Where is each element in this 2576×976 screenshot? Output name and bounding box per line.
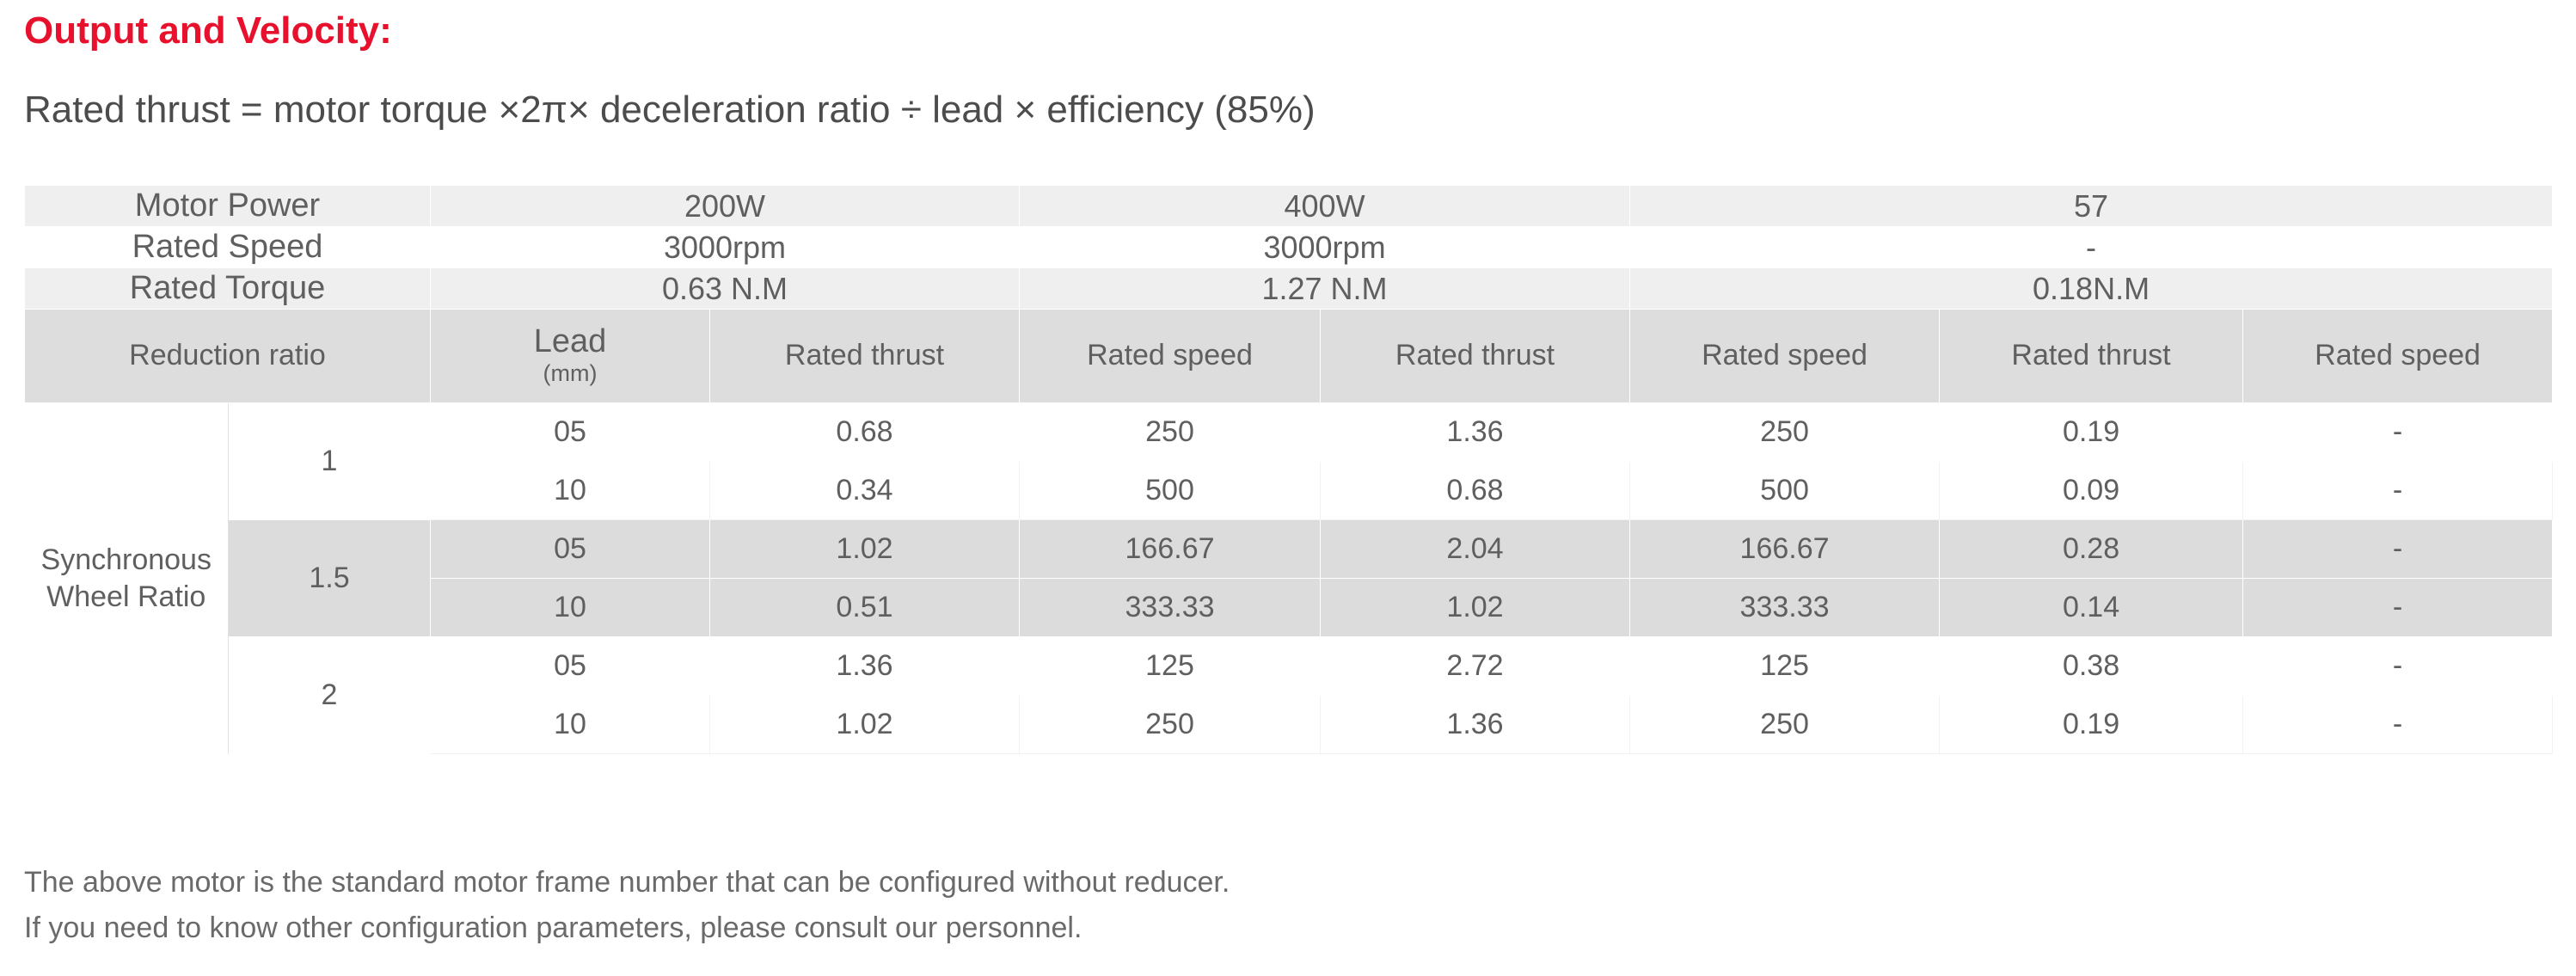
- cell-speed-200w: 125: [1020, 637, 1321, 696]
- ratio-cell-2: 2: [229, 637, 431, 754]
- footnote-line-1: The above motor is the standard motor fr…: [24, 860, 1230, 905]
- footnote-line-2: If you need to know other configuration …: [24, 905, 1230, 951]
- col-header-reduction-ratio: Reduction ratio: [25, 310, 431, 403]
- col-header-speed-57: Rated speed: [2243, 310, 2553, 403]
- table-row-rated-torque: Rated Torque 0.63 N.M 1.27 N.M 0.18N.M: [25, 268, 2553, 310]
- cell-thrust-57: 0.19: [1940, 696, 2243, 754]
- cell-thrust-400w: 0.68: [1321, 462, 1630, 520]
- cell-speed-400w: 250: [1630, 696, 1940, 754]
- cell-thrust-57: 0.09: [1940, 462, 2243, 520]
- rated-speed-200w: 3000rpm: [431, 227, 1020, 268]
- cell-speed-200w: 333.33: [1020, 579, 1321, 637]
- table-row-motor-power: Motor Power 200W 400W 57: [25, 186, 2553, 227]
- cell-speed-400w: 333.33: [1630, 579, 1940, 637]
- cell-thrust-200w: 1.02: [710, 696, 1020, 754]
- cell-speed-57: -: [2243, 579, 2553, 637]
- col-header-lead: Lead (mm): [431, 310, 710, 403]
- table-row: 2 05 1.36 125 2.72 125 0.38 -: [25, 637, 2553, 696]
- cell-speed-200w: 166.67: [1020, 520, 1321, 579]
- rated-torque-label: Rated Torque: [25, 268, 431, 310]
- cell-thrust-57: 0.14: [1940, 579, 2243, 637]
- cell-thrust-57: 0.28: [1940, 520, 2243, 579]
- cell-thrust-200w: 1.02: [710, 520, 1020, 579]
- cell-speed-400w: 166.67: [1630, 520, 1940, 579]
- cell-thrust-57: 0.38: [1940, 637, 2243, 696]
- cell-thrust-200w: 1.36: [710, 637, 1020, 696]
- cell-speed-57: -: [2243, 637, 2553, 696]
- cell-thrust-400w: 2.04: [1321, 520, 1630, 579]
- cell-speed-400w: 125: [1630, 637, 1940, 696]
- rated-speed-label: Rated Speed: [25, 227, 431, 268]
- rated-speed-57: -: [1630, 227, 2553, 268]
- ratio-cell-1: 1: [229, 403, 431, 520]
- cell-speed-200w: 500: [1020, 462, 1321, 520]
- rated-torque-200w: 0.63 N.M: [431, 268, 1020, 310]
- cell-speed-57: -: [2243, 403, 2553, 462]
- col-header-lead-unit: (mm): [431, 359, 709, 387]
- spec-sheet-page: Output and Velocity: Rated thrust = moto…: [0, 0, 2576, 976]
- table-column-header-row: Reduction ratio Lead (mm) Rated thrust R…: [25, 310, 2553, 403]
- lead-cell: 05: [431, 520, 710, 579]
- rated-torque-400w: 1.27 N.M: [1020, 268, 1630, 310]
- col-header-thrust-200w: Rated thrust: [710, 310, 1020, 403]
- cell-speed-200w: 250: [1020, 696, 1321, 754]
- cell-speed-400w: 250: [1630, 403, 1940, 462]
- table-row-rated-speed: Rated Speed 3000rpm 3000rpm -: [25, 227, 2553, 268]
- motor-power-57: 57: [1630, 186, 2553, 227]
- cell-speed-200w: 250: [1020, 403, 1321, 462]
- cell-thrust-57: 0.19: [1940, 403, 2243, 462]
- cell-thrust-200w: 0.51: [710, 579, 1020, 637]
- lead-cell: 10: [431, 462, 710, 520]
- col-header-speed-200w: Rated speed: [1020, 310, 1321, 403]
- motor-power-400w: 400W: [1020, 186, 1630, 227]
- cell-thrust-200w: 0.34: [710, 462, 1020, 520]
- lead-cell: 10: [431, 579, 710, 637]
- cell-thrust-200w: 0.68: [710, 403, 1020, 462]
- motor-spec-table: Motor Power 200W 400W 57 Rated Speed 300…: [24, 185, 2553, 754]
- rated-torque-57: 0.18N.M: [1630, 268, 2553, 310]
- lead-cell: 10: [431, 696, 710, 754]
- motor-power-label: Motor Power: [25, 186, 431, 227]
- col-header-thrust-400w: Rated thrust: [1321, 310, 1630, 403]
- table-row: 1.5 05 1.02 166.67 2.04 166.67 0.28 -: [25, 520, 2553, 579]
- row-group-label-synchronous-wheel-ratio: Synchronous Wheel Ratio: [25, 403, 229, 754]
- cell-thrust-400w: 1.02: [1321, 579, 1630, 637]
- cell-thrust-400w: 1.36: [1321, 403, 1630, 462]
- cell-speed-57: -: [2243, 462, 2553, 520]
- cell-speed-400w: 500: [1630, 462, 1940, 520]
- col-header-lead-label: Lead: [431, 325, 709, 359]
- motor-power-200w: 200W: [431, 186, 1020, 227]
- cell-speed-57: -: [2243, 696, 2553, 754]
- ratio-cell-1-5: 1.5: [229, 520, 431, 637]
- col-header-speed-400w: Rated speed: [1630, 310, 1940, 403]
- footnote: The above motor is the standard motor fr…: [24, 860, 1230, 950]
- cell-thrust-400w: 2.72: [1321, 637, 1630, 696]
- page-title: Output and Velocity:: [24, 0, 2552, 50]
- lead-cell: 05: [431, 637, 710, 696]
- cell-thrust-400w: 1.36: [1321, 696, 1630, 754]
- formula-text: Rated thrust = motor torque ×2π× deceler…: [24, 50, 2552, 129]
- cell-speed-57: -: [2243, 520, 2553, 579]
- lead-cell: 05: [431, 403, 710, 462]
- rated-speed-400w: 3000rpm: [1020, 227, 1630, 268]
- col-header-thrust-57: Rated thrust: [1940, 310, 2243, 403]
- table-row: Synchronous Wheel Ratio 1 05 0.68 250 1.…: [25, 403, 2553, 462]
